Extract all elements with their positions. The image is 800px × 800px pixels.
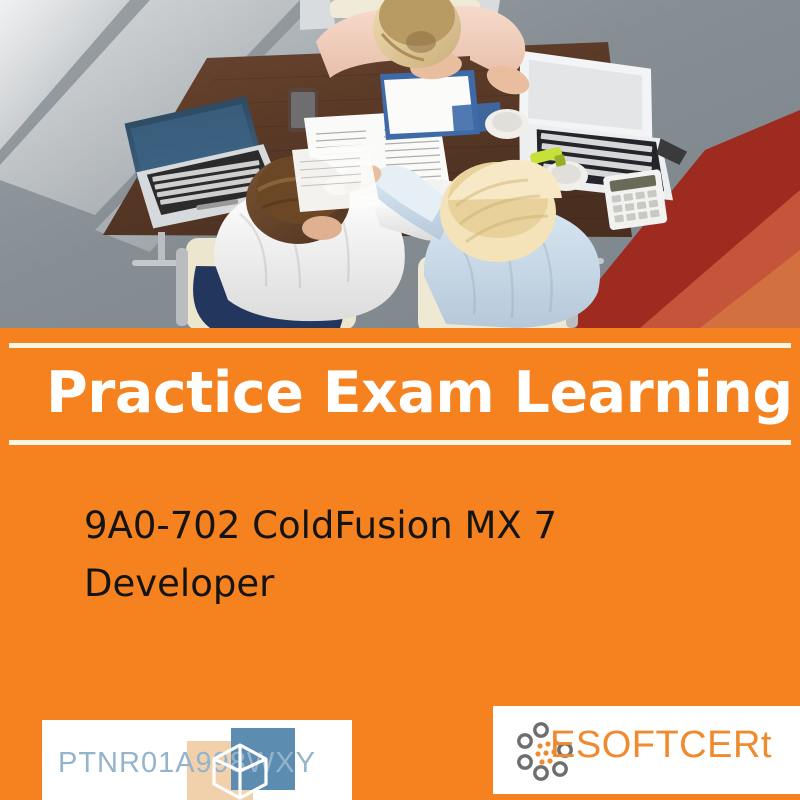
cube-box-icon <box>206 738 274 800</box>
banner-heading: Practice Exam Learning <box>46 360 786 426</box>
exam-title: 9A0-702 ColdFusion MX 7 Developer <box>84 497 704 613</box>
photo-illustration <box>0 0 800 328</box>
exam-title-line-2: Developer <box>84 555 704 613</box>
poster-root: Practice Exam Learning 9A0-702 ColdFusio… <box>0 0 800 800</box>
exam-title-line-1: 9A0-702 ColdFusion MX 7 <box>84 497 704 555</box>
office-meeting-photo <box>0 0 800 328</box>
banner-rule-bottom <box>9 440 791 445</box>
esoftcert-logo: ESOFTCERt <box>493 706 800 794</box>
banner: Practice Exam Learning <box>0 328 800 448</box>
banner-rule-top <box>9 343 791 348</box>
partner-logo-text: PTNR01A998WXY <box>58 747 316 780</box>
partner-logo: PTNR01A998WXY <box>42 720 352 800</box>
esoftcert-logo-text: ESOFTCERt <box>550 724 772 767</box>
